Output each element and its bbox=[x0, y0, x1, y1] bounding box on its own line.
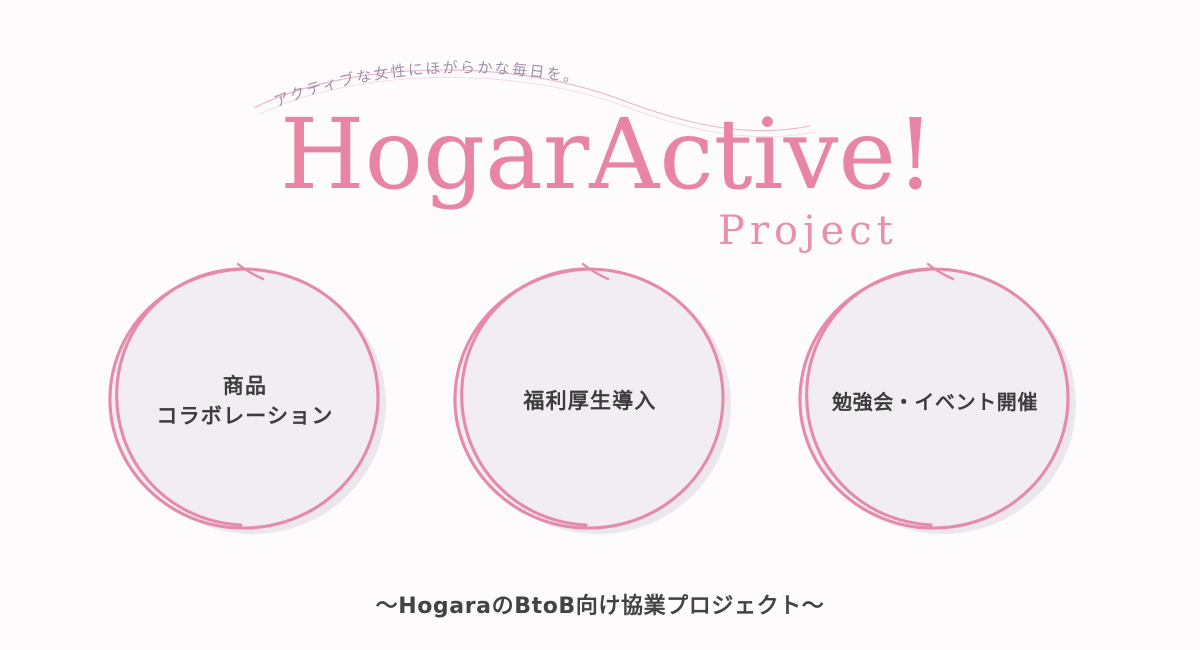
offering-circles-row: 商品 コラボレーション 福利厚生導入 bbox=[0, 262, 1200, 542]
logo-wordmark: HogarActive! bbox=[280, 98, 935, 211]
logo-subtitle: Project bbox=[718, 208, 898, 254]
offering-circle-seminar-event-hosting[interactable]: 勉強会・イベント開催 bbox=[785, 262, 1085, 542]
circle-artwork bbox=[785, 262, 1085, 542]
poster-canvas: アクティブな女性にほがらかな毎日を。 HogarActive! Project … bbox=[0, 0, 1200, 650]
offering-circle-welfare-benefit-introduction[interactable]: 福利厚生導入 bbox=[440, 262, 740, 542]
footer-caption: 〜HogaraのBtoB向け協業プロジェクト〜 bbox=[0, 588, 1200, 620]
circle-artwork bbox=[440, 262, 740, 542]
offering-circle-product-collaboration[interactable]: 商品 コラボレーション bbox=[95, 262, 395, 542]
circle-artwork bbox=[95, 262, 395, 542]
logo-artwork: アクティブな女性にほがらかな毎日を。 HogarActive! Project bbox=[250, 48, 950, 258]
brand-logo-lockup: アクティブな女性にほがらかな毎日を。 HogarActive! Project bbox=[250, 48, 950, 258]
